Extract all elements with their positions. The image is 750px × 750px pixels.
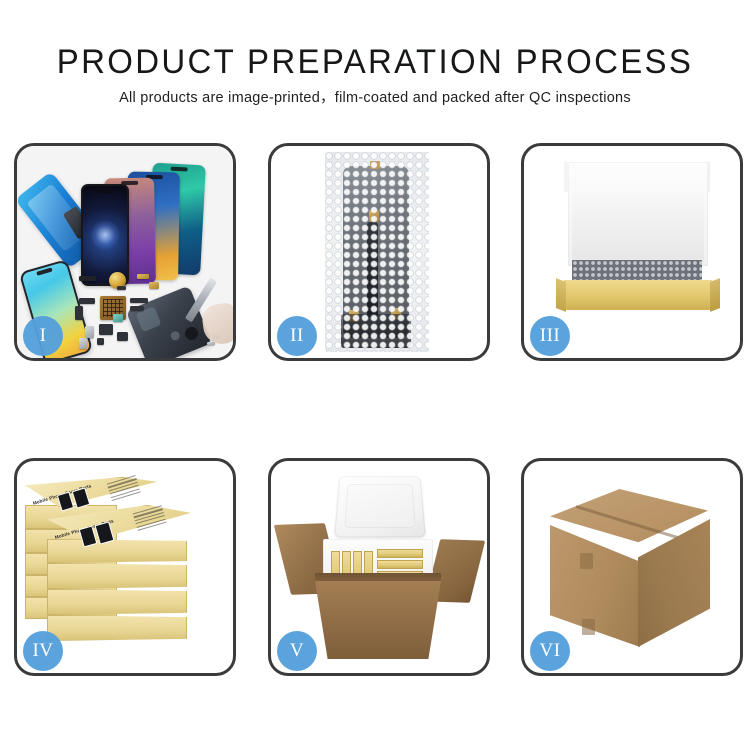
styrofoam-lid [334,476,426,537]
process-step-panel-5: V [268,458,490,676]
process-step-grid: I II [0,128,750,750]
spare-part-camera-module [113,314,123,322]
process-step-panel-6: VI [521,458,743,676]
carton-tape-upper [580,553,593,569]
retail-box-front-5 [47,615,187,641]
bubble-wrap-bag [325,152,429,352]
spare-part-flex-cable [79,298,95,304]
step-photo-1: I [17,146,233,358]
page-title: PRODUCT PREPARATION PROCESS [11,0,739,82]
retail-box-front-4 [47,589,187,615]
step-badge-5: V [277,631,317,671]
retail-box-front-2 [47,539,187,563]
step-badge-2: II [277,316,317,356]
phone-notch-icon [97,189,114,193]
process-step-panel-4: Mobile Phone Spare Parts Mobile Phone Sp… [14,458,236,676]
page-subtitle: All products are image-printed，film-coat… [0,82,750,107]
carton-body [315,581,441,659]
phone-screen-dark [81,184,129,286]
bubble-texture [325,152,429,352]
spare-part-strip [79,276,96,281]
spare-part-ribbon-2 [130,306,144,311]
step-photo-6: VI [524,461,740,673]
step-photo-5: V [271,461,487,673]
step-badge-1: I [23,316,63,356]
step-badge-4: IV [23,631,63,671]
page-header: PRODUCT PREPARATION PROCESS All products… [0,0,750,128]
process-step-panel-3: III [521,143,743,361]
step-photo-4: Mobile Phone Spare Parts Mobile Phone Sp… [17,461,233,673]
step-badge-6: VI [530,631,570,671]
spare-part-speaker [99,324,113,335]
step-photo-3: III [524,146,740,358]
spare-part-screw-set [97,338,104,345]
carton-side-face [638,519,710,647]
spare-part-battery-tab [79,338,87,349]
carton-tape-lower [582,619,595,635]
kraft-box-body [564,280,712,310]
spare-part-metal-clip [85,326,94,338]
step-badge-3: III [530,316,570,356]
process-step-panel-2: II [268,143,490,361]
phone-notch-icon [171,167,188,171]
packed-box-6 [377,560,423,569]
box-foam-liner [572,192,704,262]
spare-part-bracket [75,306,83,320]
packed-box-5 [377,549,423,558]
bubble-wrap-inside-box [572,260,702,282]
spare-part-buzzer [117,332,128,341]
process-step-panel-1: I [14,143,236,361]
spare-part-gold-flex [137,274,149,279]
carton-front-face [550,525,640,647]
spare-part-small-chip [117,286,126,290]
spare-part-ribbon [130,298,148,303]
step-photo-2: II [271,146,487,358]
spare-part-gold-connector [149,282,159,289]
retail-box-front-3 [47,563,187,589]
